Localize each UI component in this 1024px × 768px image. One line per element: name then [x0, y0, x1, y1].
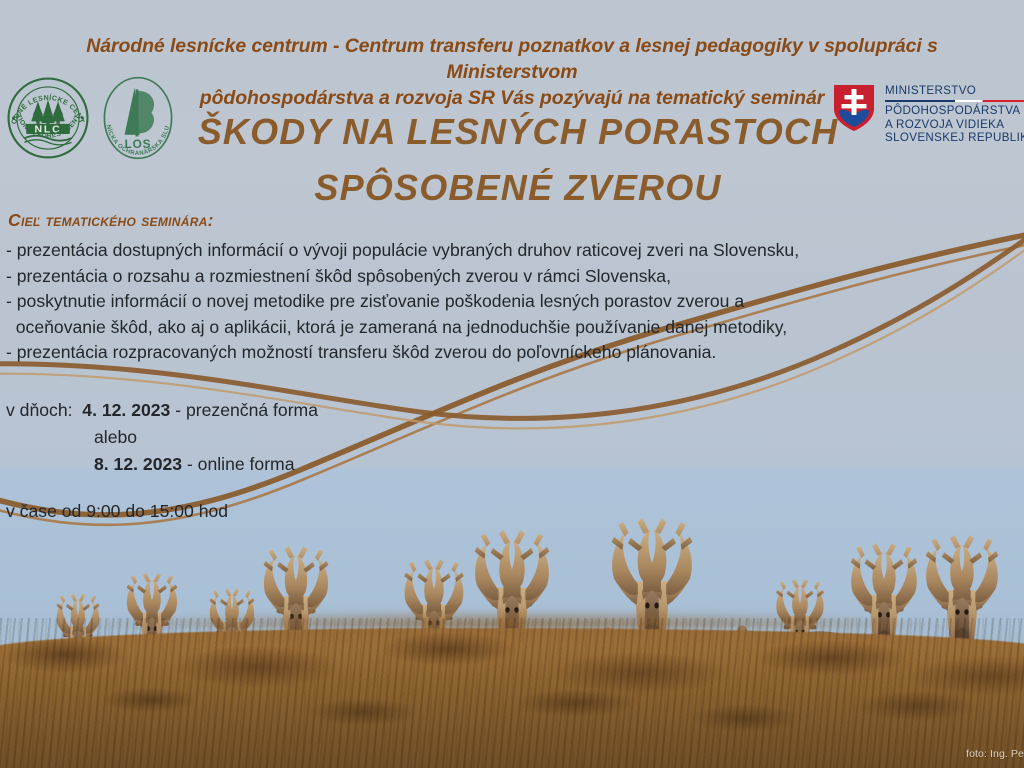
date-value-2: 8. 12. 2023	[94, 454, 182, 474]
bullet-item: - prezentácia dostupných informácií o vý…	[6, 238, 1006, 264]
poster-title: ŠKODY NA LESNÝCH PORASTOCH SPÔSOBENÉ ZVE…	[188, 104, 848, 216]
organizer-subtitle: Národné lesnícke centrum - Centrum trans…	[0, 33, 1024, 111]
goal-heading: Cieľ tematického seminára:	[8, 210, 214, 231]
title-line-1: ŠKODY NA LESNÝCH PORASTOCH	[188, 104, 848, 160]
ministry-line-3: A ROZVOJA VIDIEKA	[885, 118, 1024, 132]
dates-label: v dňoch:	[6, 400, 73, 420]
ministry-line-4: SLOVENSKEJ REPUBLIKY	[885, 131, 1024, 145]
date-row-2: 8. 12. 2023 - online forma	[6, 451, 318, 478]
field-ground	[0, 628, 1024, 768]
organizer-line-1: Národné lesnícke centrum - Centrum trans…	[0, 33, 1024, 85]
date-value-1: 4. 12. 2023	[82, 400, 170, 420]
date-form-1: - prezenčná forma	[170, 400, 318, 420]
field-horizon	[0, 602, 1024, 628]
event-dates: v dňoch: 4. 12. 2023 - prezenčná forma a…	[6, 397, 318, 478]
date-form-2: - online forma	[182, 454, 294, 474]
event-time: v čase od 9:00 do 15:00 hod	[6, 501, 228, 522]
bullet-item: - prezentácia o rozsahu a rozmiestnení š…	[6, 264, 1006, 290]
date-separator: alebo	[6, 424, 318, 451]
bullet-item: - poskytnutie informácií o novej metodik…	[6, 289, 1006, 315]
bullet-item: - prezentácia rozpracovaných možností tr…	[6, 340, 1006, 366]
date-row-1: v dňoch: 4. 12. 2023 - prezenčná forma	[6, 397, 318, 424]
seminar-poster: foto: Ing. Pet NLC NÁRODNÉ LESNÍCKE CEN	[0, 0, 1024, 768]
goal-bullet-list: - prezentácia dostupných informácií o vý…	[6, 238, 1006, 366]
bullet-item: oceňovanie škôd, ako aj o aplikácii, kto…	[6, 315, 1006, 341]
photo-credit: foto: Ing. Pet	[966, 748, 1024, 760]
title-line-2: SPÔSOBENÉ ZVEROU	[188, 160, 848, 216]
